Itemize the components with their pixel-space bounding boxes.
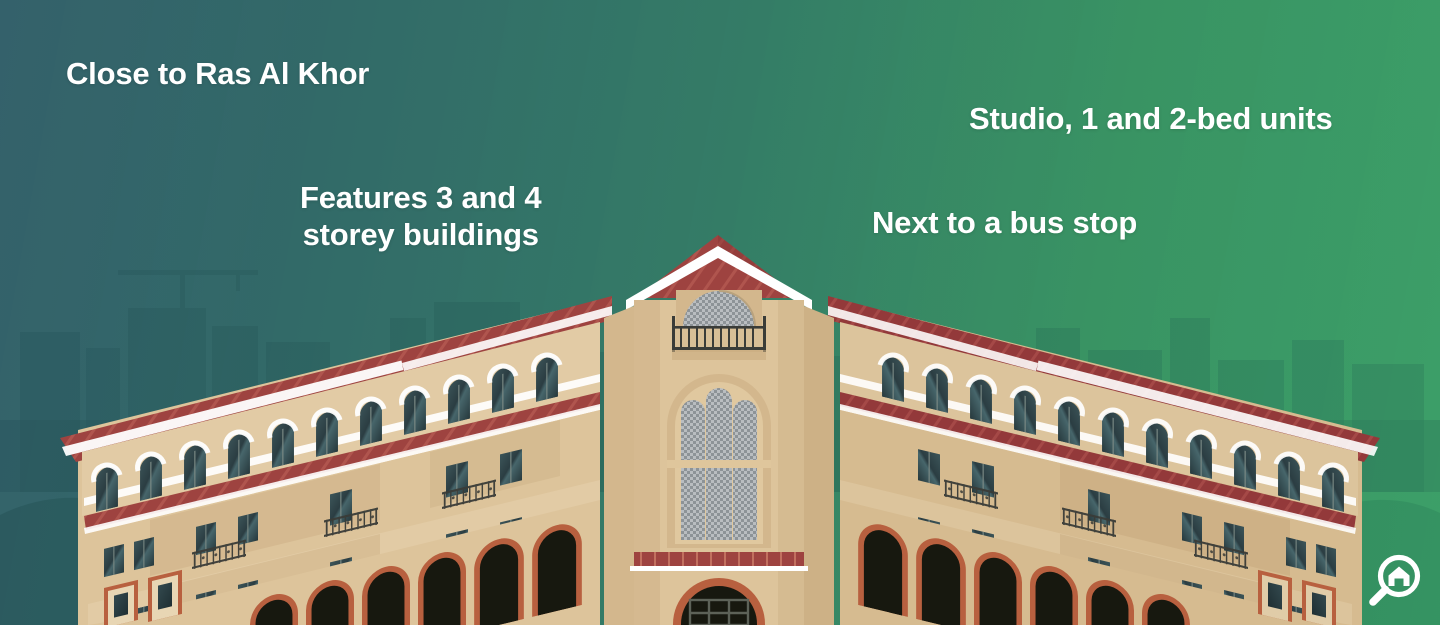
caption-features-storey-buildings: Features 3 and 4 storey buildings (300, 180, 541, 253)
caption-close-to-ras-al-khor: Close to Ras Al Khor (66, 56, 369, 93)
magnifier-house-icon (1373, 558, 1418, 603)
left-wing (60, 296, 612, 625)
central-tower (604, 235, 834, 625)
right-wing (828, 296, 1380, 625)
caption-studio-1-and-2-bed-units: Studio, 1 and 2-bed units (969, 101, 1333, 138)
building-illustration (0, 0, 1440, 625)
caption-next-to-a-bus-stop: Next to a bus stop (872, 205, 1137, 242)
property-search-logo[interactable] (1363, 551, 1425, 613)
banner-root: Close to Ras Al Khor Features 3 and 4 st… (0, 0, 1440, 625)
